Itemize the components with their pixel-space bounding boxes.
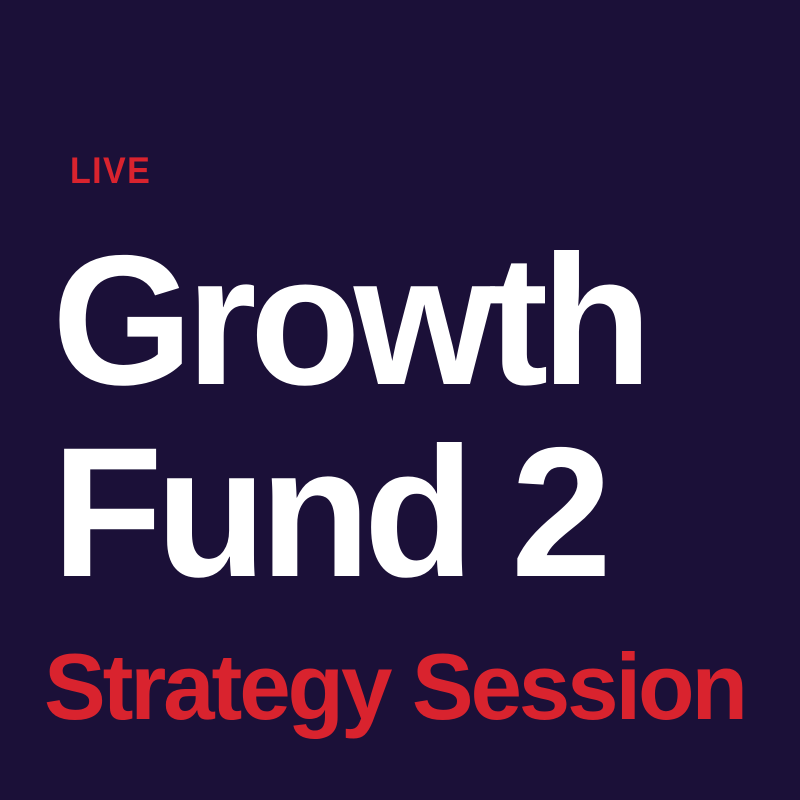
poster-subtitle: Strategy Session [44, 640, 745, 734]
headline-line-2: Fund 2 [52, 428, 758, 598]
headline-line-1: Growth [52, 236, 758, 406]
promo-poster: LIVE Growth Fund 2 Strategy Session [0, 0, 800, 800]
live-badge-label: LIVE [70, 152, 151, 189]
poster-headline: Growth Fund 2 [52, 236, 772, 598]
